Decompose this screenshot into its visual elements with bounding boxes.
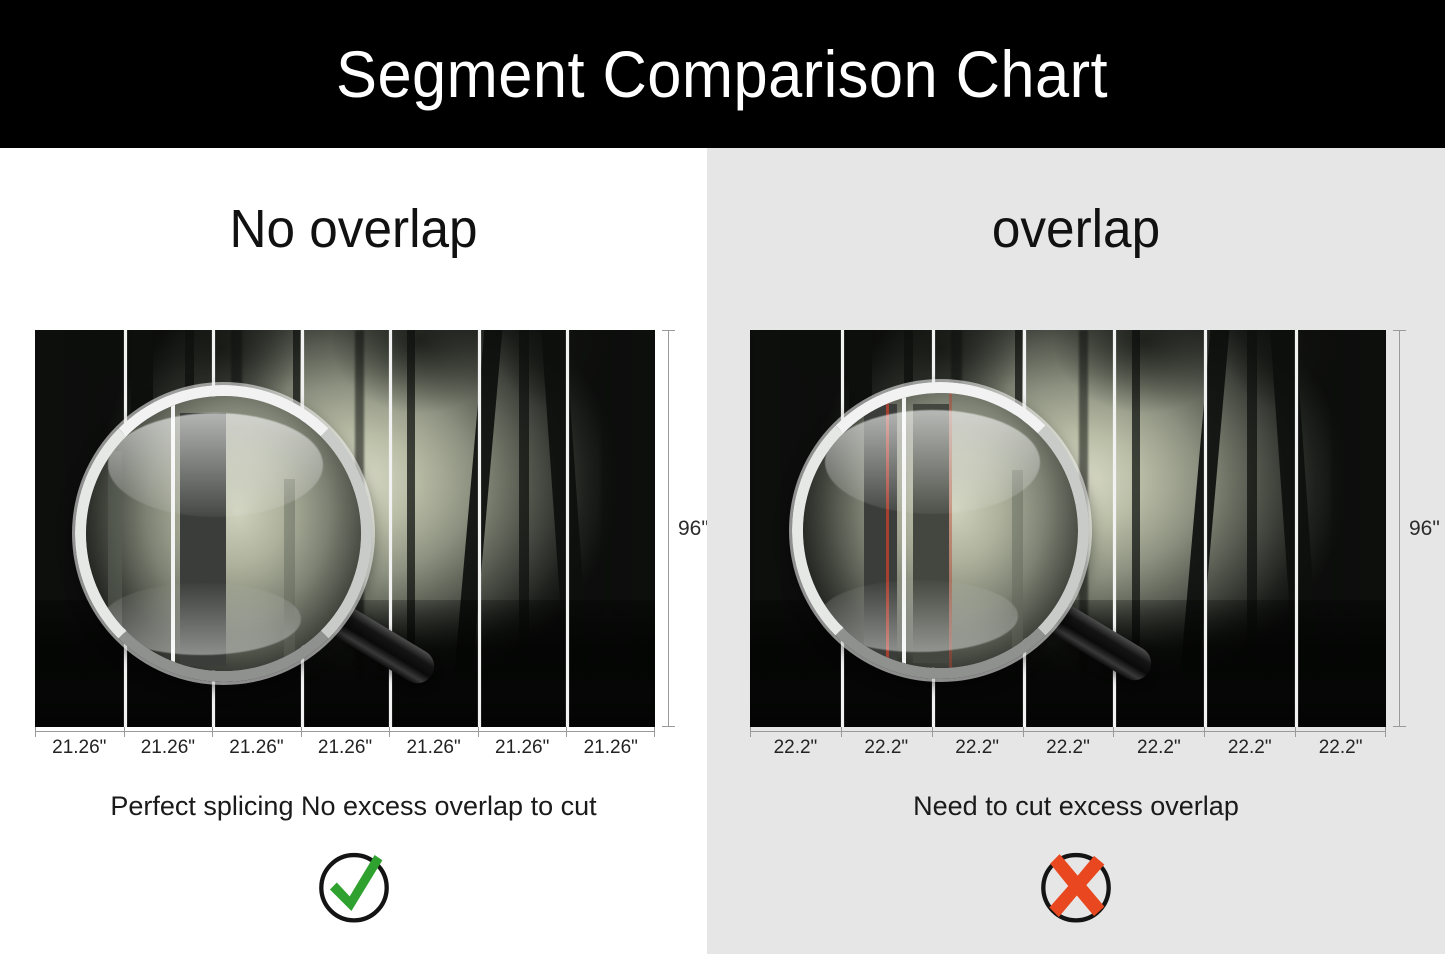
segment-label: 21.26" <box>301 737 390 759</box>
segment-label: 22.2" <box>1204 737 1295 759</box>
caption-no-overlap: Perfect splicing No excess overlap to cu… <box>0 791 707 822</box>
segment-label: 21.26" <box>566 737 655 759</box>
segment-label: 22.2" <box>1113 737 1204 759</box>
segment-label: 22.2" <box>932 737 1023 759</box>
segment-label: 21.26" <box>212 737 301 759</box>
dimension-cap-top <box>662 330 675 331</box>
dimension-cap-top <box>1393 330 1406 331</box>
segment-labels-no-overlap: 21.26" 21.26" 21.26" 21.26" 21.26" 21.26… <box>35 737 655 759</box>
segment-label: 21.26" <box>478 737 567 759</box>
panels-container: No overlap <box>0 148 1445 954</box>
dimension-line <box>668 330 669 727</box>
page-title-bar: Segment Comparison Chart <box>0 0 1445 148</box>
forest-photo <box>750 330 1386 727</box>
panel-heading-overlap: overlap <box>725 198 1426 260</box>
segment-label: 21.26" <box>389 737 478 759</box>
height-label: 96" <box>1409 517 1440 541</box>
segment-label: 22.2" <box>1023 737 1114 759</box>
segment-label: 22.2" <box>1295 737 1386 759</box>
dimension-cap-bottom <box>662 726 675 727</box>
check-circle-icon <box>311 843 397 929</box>
segment-label: 21.26" <box>124 737 213 759</box>
segment-seams <box>750 330 1386 727</box>
photo-strip-overlap <box>750 330 1386 727</box>
segment-label: 22.2" <box>841 737 932 759</box>
cross-circle-icon <box>1033 843 1119 929</box>
dimension-cap-bottom <box>1393 726 1406 727</box>
comparison-chart-page: Segment Comparison Chart No overlap <box>0 0 1445 954</box>
dimension-line <box>1399 330 1400 727</box>
photo-strip-no-overlap <box>35 330 655 727</box>
dimension-axis <box>35 731 655 732</box>
segment-label: 21.26" <box>35 737 124 759</box>
panel-heading-no-overlap: No overlap <box>18 198 690 260</box>
page-title: Segment Comparison Chart <box>337 36 1109 112</box>
segment-label: 22.2" <box>750 737 841 759</box>
forest-photo <box>35 330 655 727</box>
segment-labels-overlap: 22.2" 22.2" 22.2" 22.2" 22.2" 22.2" 22.2… <box>750 737 1386 759</box>
caption-overlap: Need to cut excess overlap <box>707 791 1445 822</box>
status-badge-approved <box>311 843 397 929</box>
dimension-axis <box>750 731 1386 732</box>
status-badge-rejected <box>1033 843 1119 929</box>
height-label: 96" <box>678 517 709 541</box>
segment-seams <box>35 330 655 727</box>
panel-overlap: overlap <box>707 148 1445 954</box>
panel-no-overlap: No overlap <box>0 148 707 954</box>
